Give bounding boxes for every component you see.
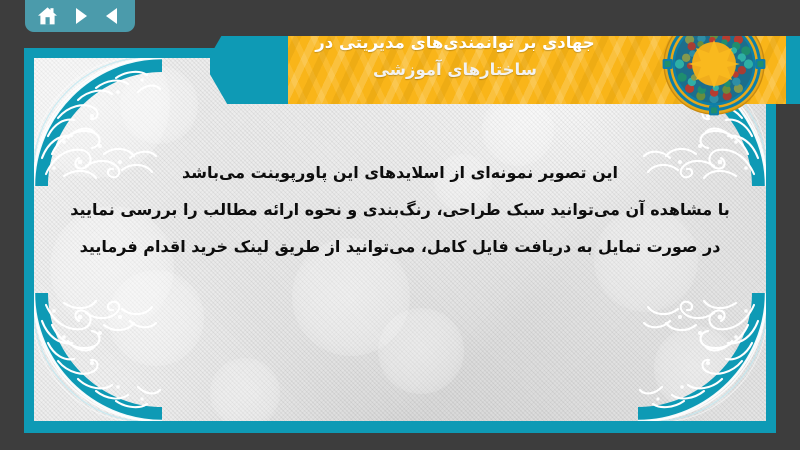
slide-canvas: این تصویر نمونه‌ای از اسلایدهای این پاور… — [34, 58, 766, 421]
bokeh-circle — [210, 358, 280, 421]
slide-body-text: این تصویر نمونه‌ای از اسلایدهای این پاور… — [48, 154, 752, 265]
home-button[interactable] — [33, 3, 61, 29]
navigation-pill — [25, 0, 135, 32]
bokeh-circle — [378, 308, 464, 394]
triangle-left-icon — [104, 7, 121, 25]
banner-right-accent — [786, 26, 800, 104]
slide-frame: این تصویر نمونه‌ای از اسلایدهای این پاور… — [24, 48, 776, 433]
slide-texture — [34, 58, 766, 421]
bokeh-circle — [292, 238, 410, 356]
bokeh-circle — [34, 58, 170, 178]
home-icon — [37, 6, 58, 26]
bokeh-circle — [434, 154, 492, 212]
top-toolbar — [0, 0, 800, 36]
slide-body-line-2: با مشاهده آن می‌توانید سبک طراحی، رنگ‌بن… — [48, 191, 752, 228]
bokeh-circle — [50, 206, 174, 330]
slide-body-line-3: در صورت تمایل به دریافت فایل کامل، می‌تو… — [48, 228, 752, 265]
bokeh-circle — [120, 66, 198, 144]
corner-flourish-top-left — [34, 58, 162, 186]
bokeh-circle — [594, 208, 698, 312]
slide-body-line-1: این تصویر نمونه‌ای از اسلایدهای این پاور… — [48, 154, 752, 191]
corner-flourish-bottom-right — [638, 293, 766, 421]
corner-flourish-top-right — [638, 58, 766, 186]
bokeh-circle — [108, 270, 204, 366]
slide-viewer: کامل بررسی اثر مدیریت دانش با رویکرد جها… — [0, 0, 800, 450]
bokeh-circle — [482, 94, 554, 166]
back-button[interactable] — [99, 3, 127, 29]
triangle-right-icon — [72, 7, 89, 25]
forward-button[interactable] — [66, 3, 94, 29]
bokeh-circle — [654, 326, 738, 410]
corner-flourish-bottom-left — [34, 293, 162, 421]
